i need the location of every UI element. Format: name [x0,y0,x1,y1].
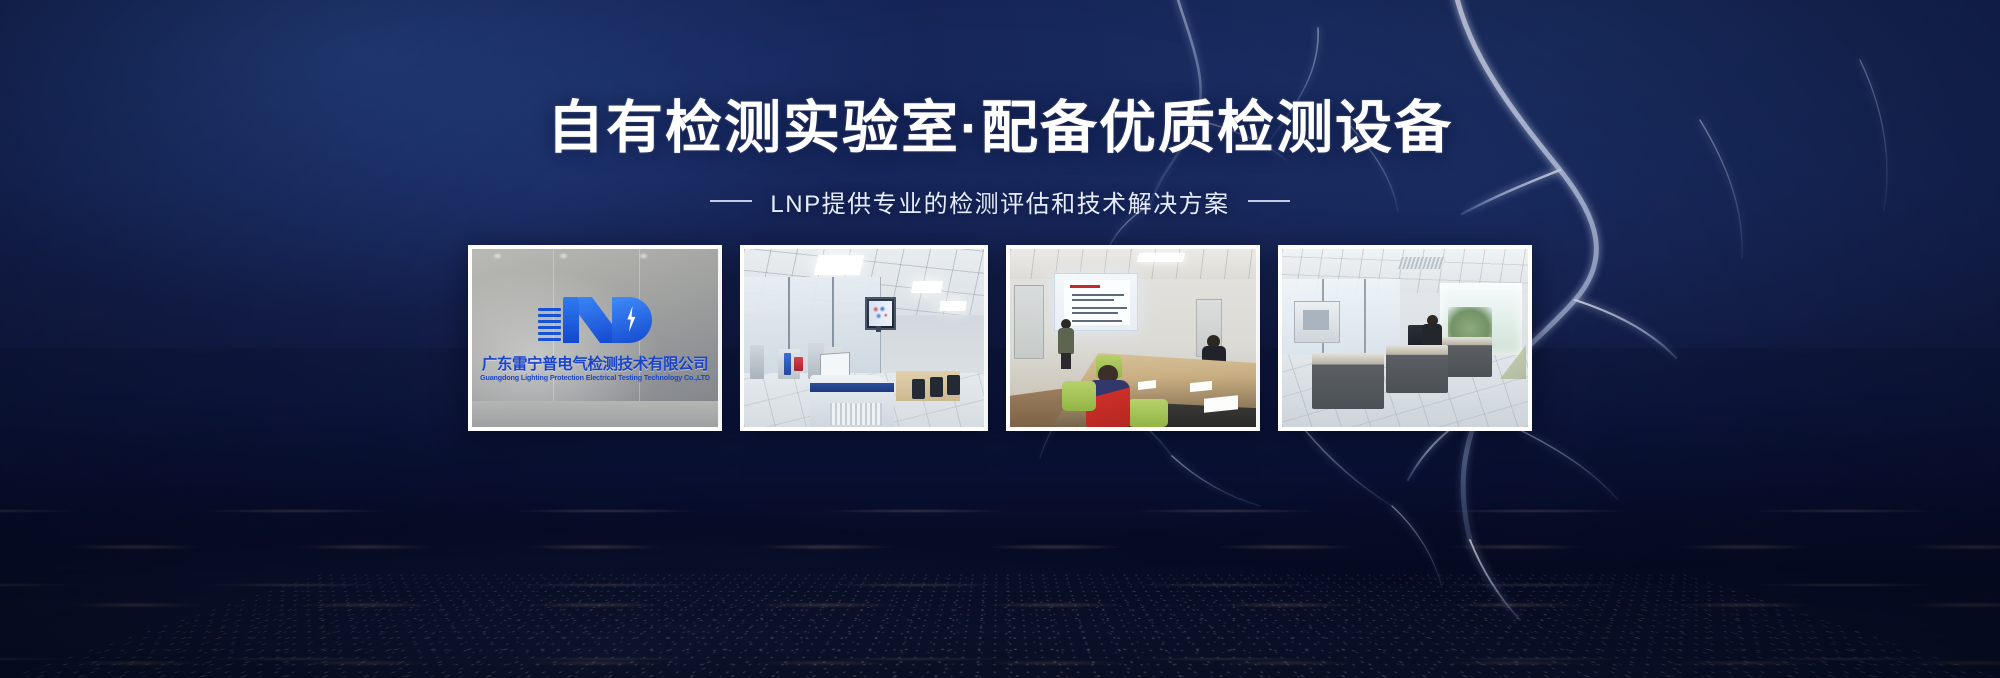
company-name-cn: 广东雷宁普电气检测技术有限公司 [482,352,709,374]
photo-office-workspace [1282,249,1528,427]
presenter-person [1058,319,1074,369]
company-name-en: Guangdong Lighting Protection Electrical… [480,373,710,382]
banner-text-block: 自有检测实验室·配备优质检测设备 LNP提供专业的检测评估和技术解决方案 [0,96,2000,219]
photo-testing-laboratory [744,249,984,427]
photo-card-meeting-room[interactable] [1006,245,1260,431]
city-nightscape-background [0,388,2000,678]
lnp-logo-icon [538,297,652,343]
banner-subtitle-row: LNP提供专业的检测评估和技术解决方案 [0,184,2000,219]
photo-company-lobby-signage: 广东雷宁普电气检测技术有限公司 Guangdong Lighting Prote… [472,249,718,427]
dash-left-icon [710,200,752,202]
lightning-bolt-icon [625,306,638,332]
hero-banner: 自有检测实验室·配备优质检测设备 LNP提供专业的检测评估和技术解决方案 [0,0,2000,678]
banner-headline: 自有检测实验室·配备优质检测设备 [0,96,2000,162]
banner-subtitle: LNP提供专业的检测评估和技术解决方案 [770,184,1229,219]
photo-gallery-row: 广东雷宁普电气检测技术有限公司 Guangdong Lighting Prote… [468,245,1532,431]
dash-right-icon [1248,200,1290,202]
photo-card-testing-laboratory[interactable] [740,245,988,431]
photo-training-meeting-room [1010,249,1256,427]
photo-card-company-signage[interactable]: 广东雷宁普电气检测技术有限公司 Guangdong Lighting Prote… [468,245,722,431]
office-worker-person [1422,315,1442,349]
photo-card-office-workspace[interactable] [1278,245,1532,431]
